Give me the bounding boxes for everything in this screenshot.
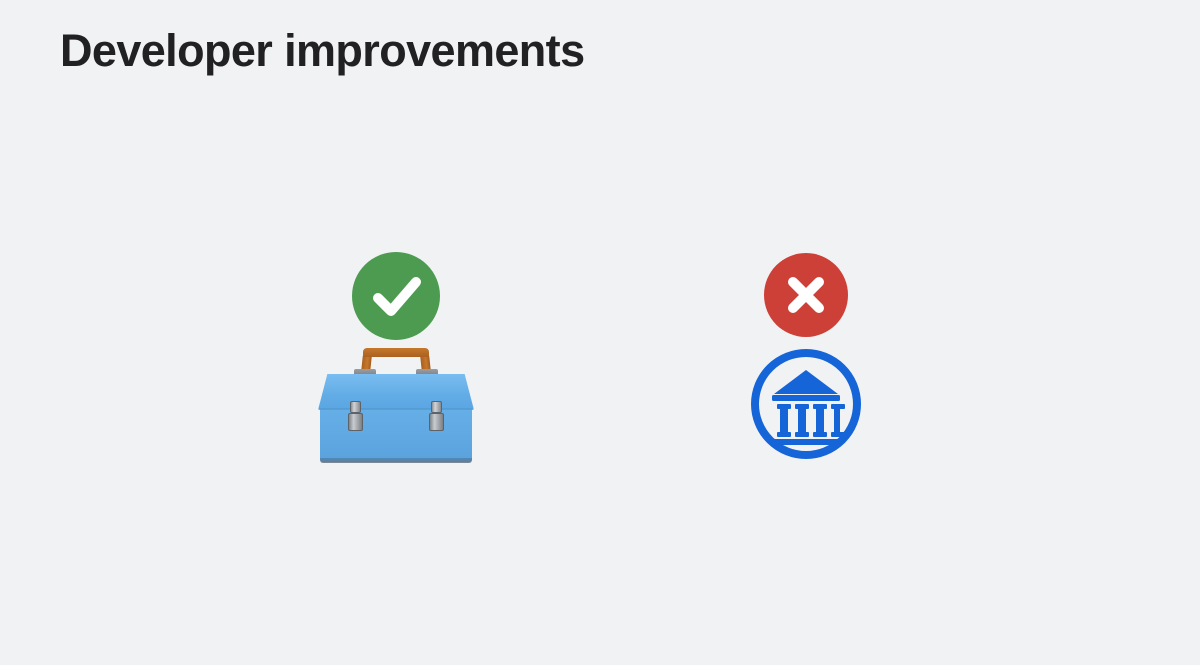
- toolbox-handle-bar: [363, 348, 429, 357]
- toolbox-base-shadow: [320, 458, 472, 463]
- badge-row-supported: [286, 246, 506, 342]
- column-supported: [286, 246, 506, 462]
- toolbox-seam: [320, 408, 472, 410]
- column-unsupported: [696, 246, 916, 462]
- toolbox-icon: [318, 348, 474, 464]
- subject-row-toolbox: [286, 342, 506, 462]
- x-circle-icon: [764, 253, 848, 337]
- bank-building-icon: [750, 348, 862, 460]
- page-title: Developer improvements: [60, 25, 585, 77]
- slide-canvas: Developer improvements: [0, 0, 1200, 665]
- check-circle-icon: [352, 252, 440, 340]
- toolbox-latch-left: [348, 401, 363, 431]
- subject-row-bank: [696, 342, 916, 462]
- toolbox-lid: [318, 374, 474, 410]
- badge-row-unsupported: [696, 246, 916, 342]
- toolbox-latch-right: [429, 401, 444, 431]
- toolbox-body: [320, 409, 472, 462]
